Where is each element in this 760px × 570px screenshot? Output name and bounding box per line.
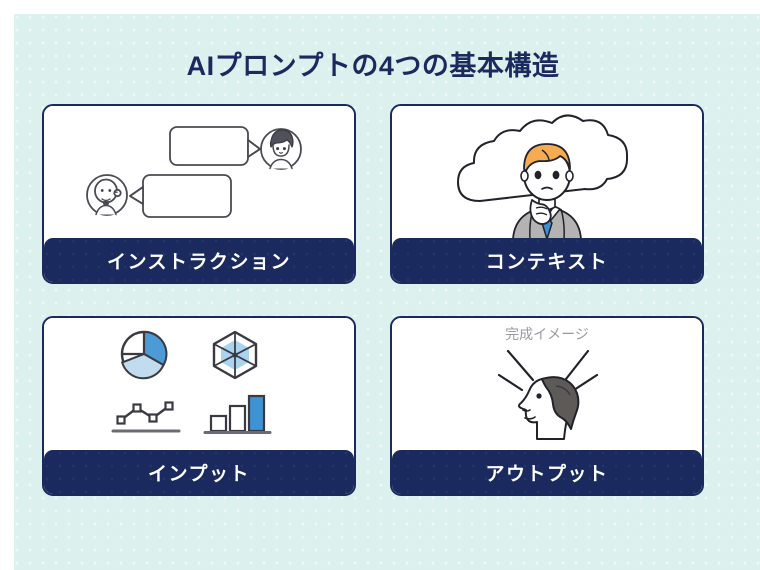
card-output-label: アウトプット: [392, 450, 702, 494]
card-output[interactable]: 完成イメージ: [390, 316, 704, 496]
thinking-businessman-in-cloud-illustration: [392, 106, 702, 238]
chart-icons-illustration: [99, 324, 299, 444]
chat-bubbles-illustration: [44, 106, 354, 238]
card-context-label: コンテキスト: [392, 238, 702, 282]
pie-chart-icon: [122, 332, 166, 378]
card-instruction-label: インストラクション: [44, 238, 354, 282]
head-profile-with-idea-illustration: 完成イメージ: [392, 318, 702, 450]
output-caption: 完成イメージ: [505, 326, 589, 342]
card-instruction[interactable]: インストラクション: [42, 104, 356, 284]
card-input[interactable]: インプット: [42, 316, 356, 496]
bar-chart-icon: [205, 396, 270, 433]
card-input-art: [44, 318, 354, 450]
line-chart-icon: [113, 403, 179, 432]
card-output-art: 完成イメージ: [392, 318, 702, 450]
cards-grid: インストラクション: [42, 104, 704, 500]
radar-hexagon-chart-icon: [214, 332, 256, 378]
card-context-art: [392, 106, 702, 238]
card-instruction-art: [44, 106, 354, 238]
card-input-label: インプット: [44, 450, 354, 494]
page-title: AIプロンプトの4つの基本構造: [0, 44, 746, 83]
infographic-root: AIプロンプトの4つの基本構造: [0, 0, 760, 570]
card-context[interactable]: コンテキスト: [390, 104, 704, 284]
